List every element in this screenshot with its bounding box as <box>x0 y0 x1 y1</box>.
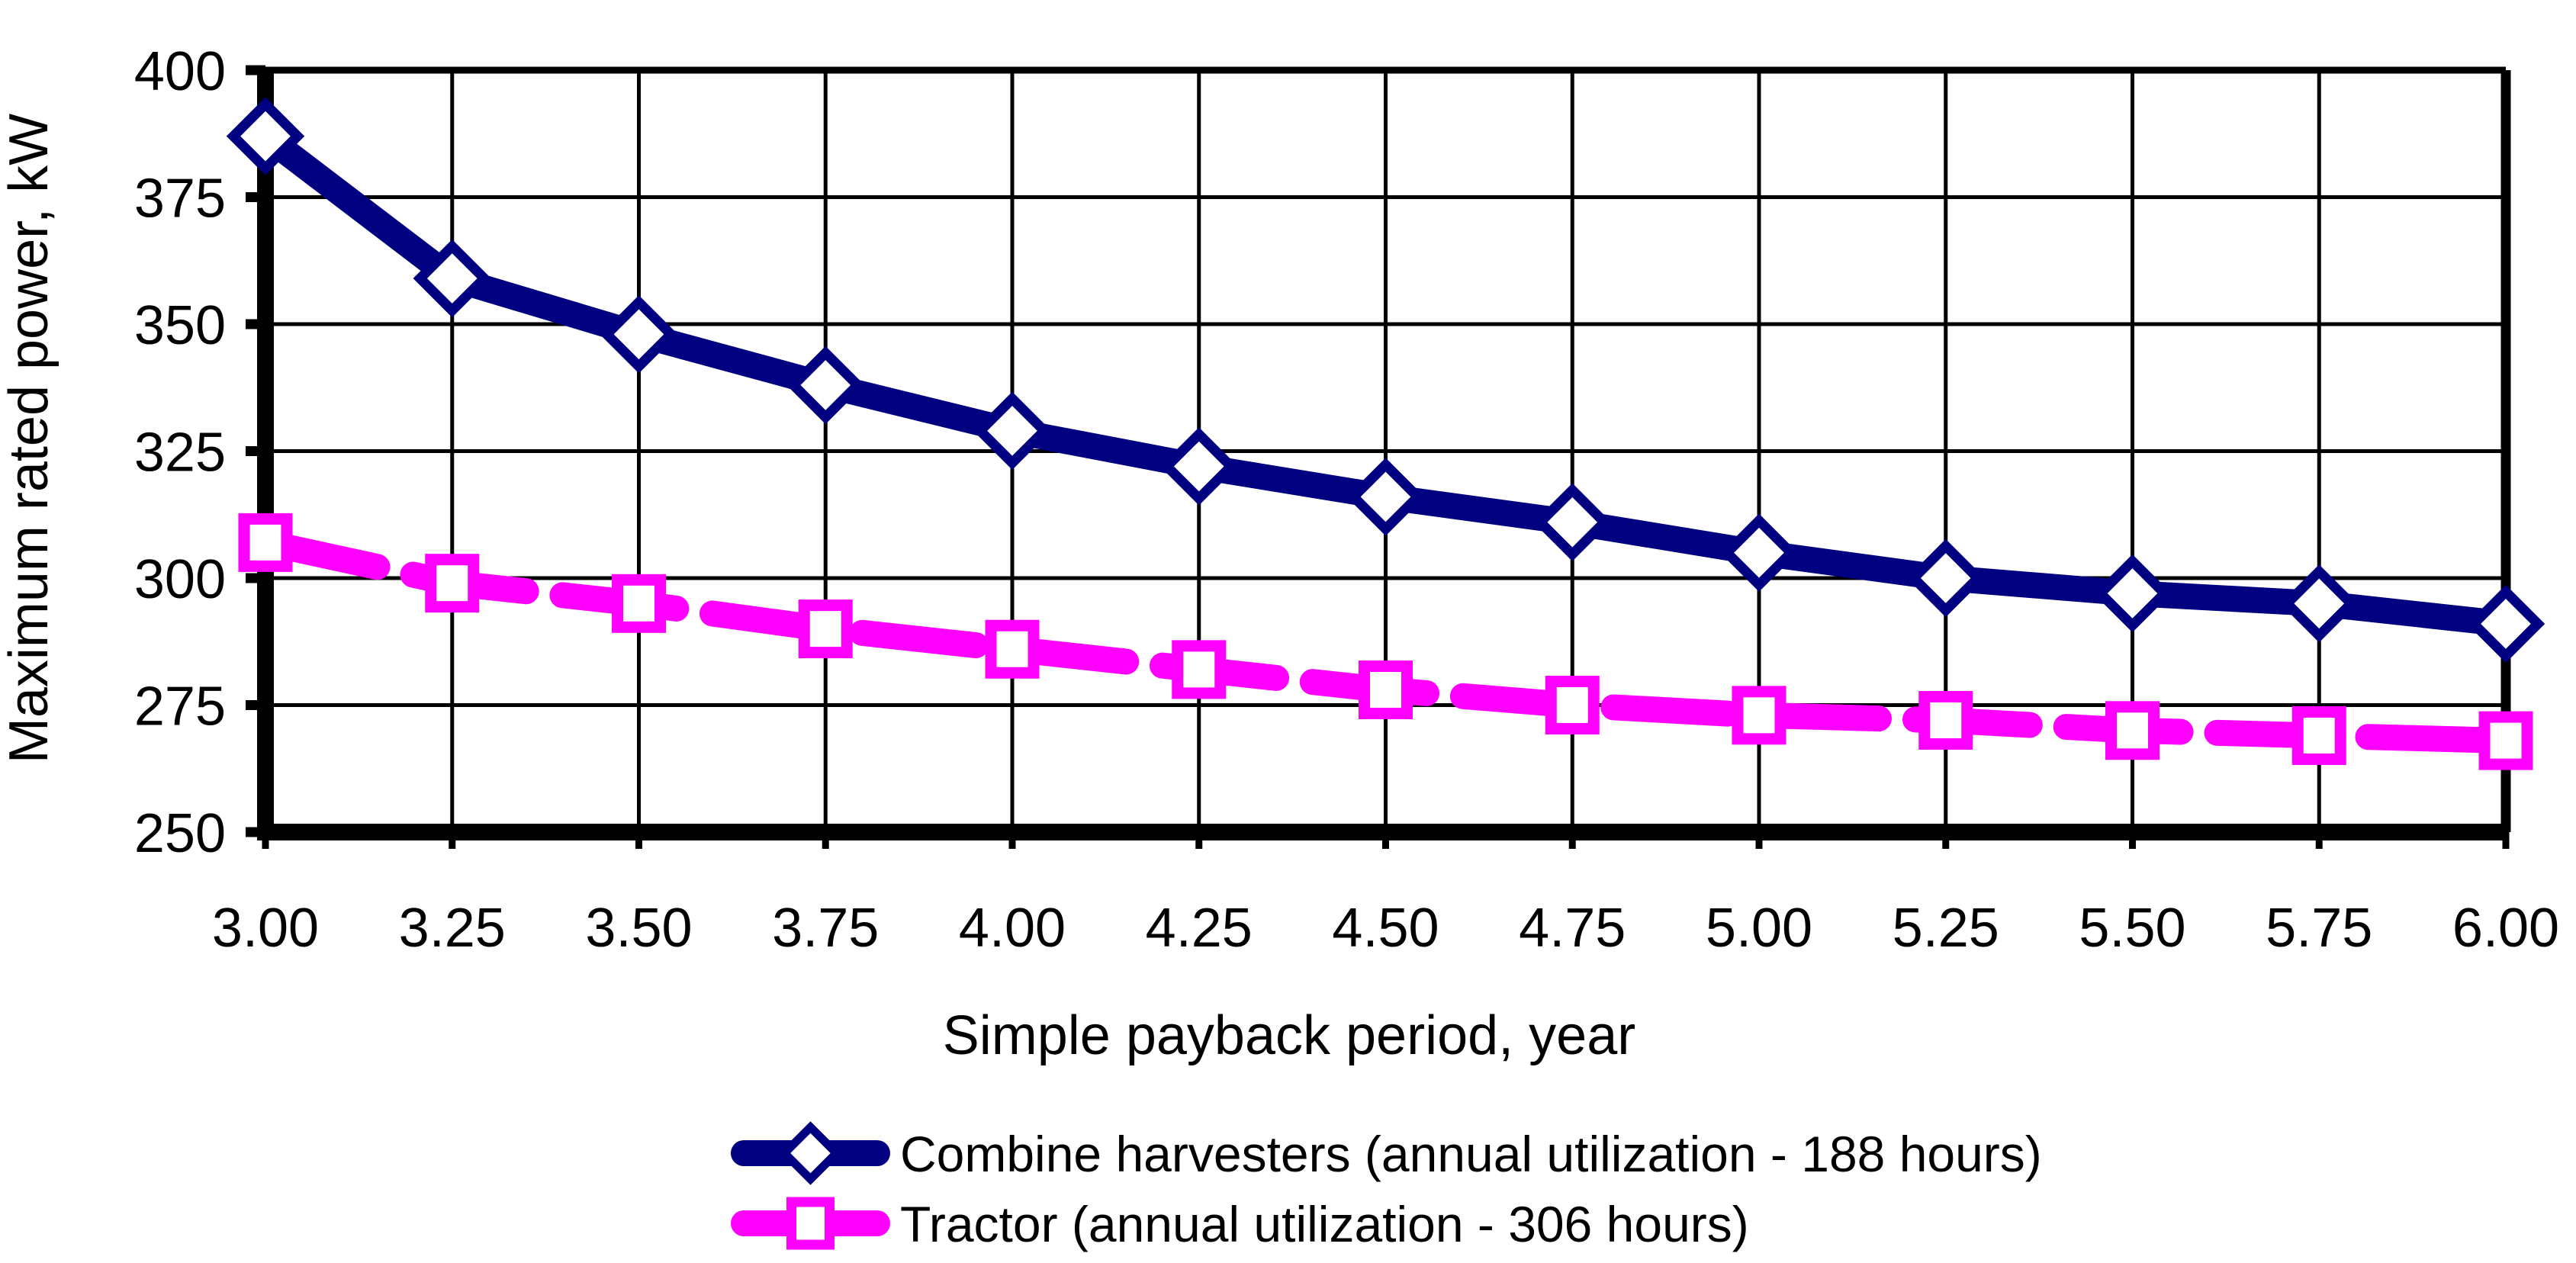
x-tick-label: 5.50 <box>2079 898 2185 959</box>
y-tick-label: 300 <box>134 549 226 610</box>
x-tick-label: 3.00 <box>212 898 319 959</box>
line-chart: 3.003.253.503.754.004.254.504.755.005.25… <box>0 0 2576 1263</box>
y-tick-label: 400 <box>134 41 226 102</box>
y-tick-label: 350 <box>134 295 226 356</box>
x-tick-label: 3.75 <box>772 898 879 959</box>
legend-marker-square <box>792 1202 830 1245</box>
data-point-marker <box>2111 707 2154 754</box>
legend-label-2: Tractor (annual utilization - 306 hours) <box>900 1196 1749 1252</box>
x-tick-label: 5.25 <box>1893 898 1999 959</box>
y-tick-label: 325 <box>134 423 226 484</box>
x-tick-label: 4.75 <box>1519 898 1626 959</box>
data-point-marker <box>244 519 287 566</box>
x-tick-label: 4.50 <box>1332 898 1439 959</box>
y-tick-label: 250 <box>134 803 226 864</box>
x-tick-label: 5.75 <box>2266 898 2372 959</box>
data-point-marker <box>1551 682 1594 729</box>
data-point-marker <box>1178 646 1220 693</box>
x-tick-label: 3.25 <box>399 898 506 959</box>
data-point-marker <box>991 625 1034 673</box>
x-tick-label: 4.25 <box>1146 898 1253 959</box>
data-point-marker <box>1365 667 1407 714</box>
data-point-marker <box>1738 692 1780 739</box>
data-point-marker <box>2484 717 2527 764</box>
data-point-marker <box>2298 712 2340 759</box>
x-tick-label: 3.50 <box>585 898 692 959</box>
y-tick-label: 375 <box>134 169 226 230</box>
chart-background <box>0 0 2576 1263</box>
data-point-marker <box>618 580 661 627</box>
data-point-marker <box>804 606 847 653</box>
x-tick-label: 4.00 <box>959 898 1066 959</box>
data-point-marker <box>431 560 474 607</box>
x-axis-title: Simple payback period, year <box>943 1005 1635 1066</box>
data-point-marker <box>1925 696 1967 744</box>
y-tick-label: 275 <box>134 676 226 738</box>
x-tick-label: 6.00 <box>2452 898 2559 959</box>
x-tick-label: 5.00 <box>1706 898 1812 959</box>
chart-container: 3.003.253.503.754.004.254.504.755.005.25… <box>0 0 2576 1263</box>
y-axis-title: Maximum rated power, kW <box>0 114 59 763</box>
legend-label-1: Combine harvesters (annual utilization -… <box>900 1126 2042 1182</box>
